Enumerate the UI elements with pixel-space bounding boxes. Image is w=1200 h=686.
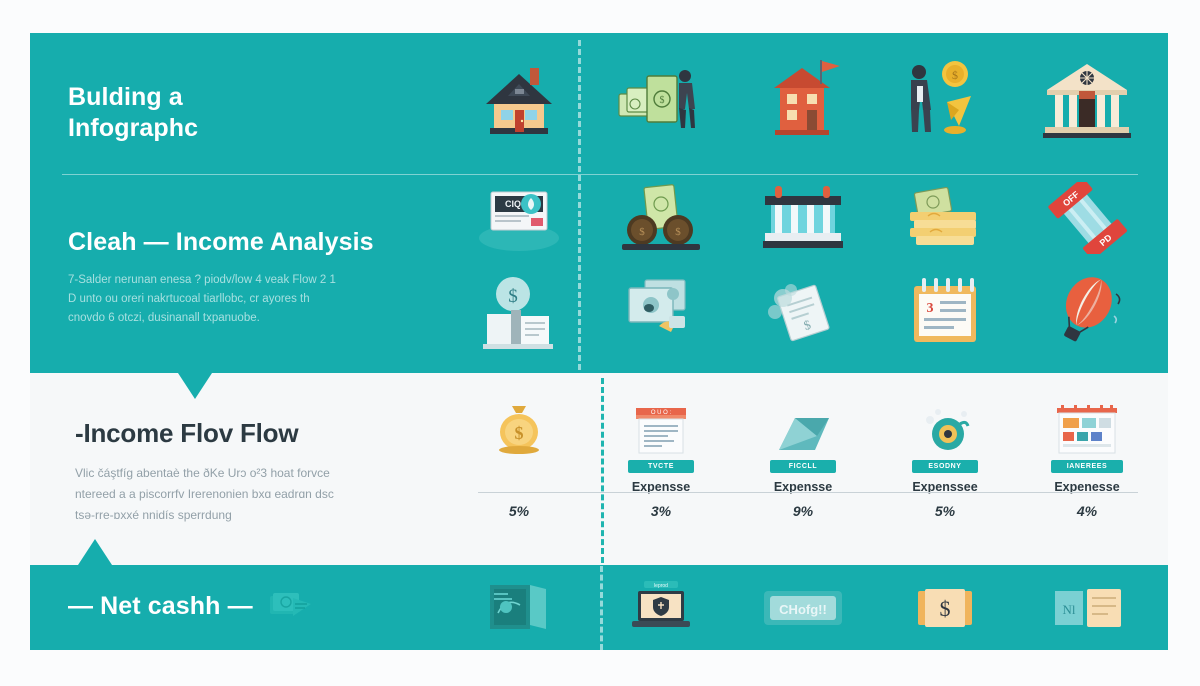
stat-badge-4: ESODNY [912, 460, 978, 473]
svg-text:$: $ [515, 423, 524, 443]
piggy-coin-icon [914, 398, 976, 456]
businessman-gold-coins-icon[interactable]: $ [874, 58, 1016, 142]
svg-text:CIQ: CIQ [505, 199, 521, 209]
card-label-text: CHofg!! [779, 602, 827, 617]
laptop-shield-icon[interactable]: leprod [590, 579, 732, 637]
page-title: Bulding a Infographc [68, 82, 198, 144]
icon-row-3: $ [448, 272, 1158, 352]
books-coin-icon[interactable]: $ [448, 272, 590, 352]
stat-column-2[interactable]: O U O : TVCTE Expensse [590, 398, 732, 494]
net-cash-heading: — Net cashh — [68, 592, 253, 621]
infographic-canvas: Bulding a Infographc Cleah — Income Anal… [0, 0, 1200, 686]
stat-column-3[interactable]: FICCLL Expensse [732, 398, 874, 494]
income-flow-body-line2: ntereed a a piscorrfv Irerenonien bxɑ ea… [75, 484, 334, 505]
income-flow-body-line1: Vlic čáştfíg abentaè the ðKe Urɔ o²3 hoa… [75, 463, 334, 484]
cash-banknotes-person-icon[interactable]: $ [590, 58, 732, 142]
paper-documents-icon[interactable]: $ [732, 272, 874, 352]
income-analysis-body-line1: 7-Salder nerunan enesa ? piodv/low 4 vea… [68, 271, 374, 290]
percent-value-4: 5% [874, 503, 1016, 519]
banknote-coins-icon[interactable]: $ $ [590, 182, 732, 254]
red-house-flag-icon[interactable] [732, 58, 874, 142]
percent-value-3: 9% [732, 503, 874, 519]
page-title-line1: Bulding a [68, 82, 198, 113]
house-icon[interactable] [448, 58, 590, 142]
income-flow-body-line3: tsə-rre-ɒxxé nnidís sperrdung [75, 505, 334, 526]
open-book-icon[interactable] [448, 579, 590, 637]
calendar-icon[interactable]: 3 [874, 272, 1016, 352]
svg-text:$: $ [952, 68, 958, 82]
stat-badge-3: FICCLL [770, 460, 836, 473]
percent-value-1: 5% [448, 503, 590, 519]
income-analysis-body: 7-Salder nerunan enesa ? piodv/low 4 vea… [68, 271, 374, 328]
laptop-screen-icon[interactable]: CIQ [448, 182, 590, 254]
net-cash-section: — Net cashh — [68, 588, 313, 624]
svg-text:$: $ [675, 226, 681, 238]
money-stack-icon [267, 588, 313, 624]
dashboard-chart-icon [1052, 398, 1122, 456]
svg-text:3: 3 [927, 301, 934, 316]
svg-text:$: $ [660, 95, 665, 106]
red-tag-label-icon[interactable]: OFF PD [1016, 182, 1158, 254]
bank-building-icon[interactable] [1016, 58, 1158, 142]
expense-stats-row: $ O U O : TV [448, 398, 1158, 494]
banknotes-faded-icon[interactable] [590, 272, 732, 352]
income-flow-section: -Income Flov Flow Vlic čáştfíg abentaè t… [75, 418, 334, 526]
income-analysis-section: Cleah — Income Analysis 7-Salder nerunan… [68, 228, 374, 328]
svg-text:$: $ [639, 226, 645, 238]
envelope-letter-icon [771, 398, 835, 456]
stat-column-1[interactable]: $ [448, 398, 590, 494]
svg-text:$: $ [508, 286, 518, 307]
stat-badge-2: TVCTE [628, 460, 694, 473]
income-analysis-body-line2: D unto ou oreri nakrtucoal tiarllobc, cr… [68, 290, 374, 309]
percent-value-2: 3% [590, 503, 732, 519]
card-label-icon[interactable]: CHofg!! [732, 583, 874, 633]
svg-text:$: $ [940, 596, 951, 621]
shop-storefront-icon: O U O : [630, 398, 692, 456]
note-card-text: Nl [1063, 602, 1076, 617]
income-flow-heading: -Income Flov Flow [75, 418, 334, 449]
money-bag-dollar-icon: $ [490, 398, 548, 456]
stats-separator-rule [478, 492, 1138, 493]
section-divider-rule [62, 174, 1138, 175]
bank-columns-icon[interactable] [732, 182, 874, 254]
dollar-bill-icon[interactable]: $ [874, 583, 1016, 633]
money-stack-bills-icon[interactable] [874, 182, 1016, 254]
percent-row: 5% 3% 9% 5% 4% [448, 503, 1158, 519]
callout-pointer-bottom-icon [78, 539, 112, 565]
page-title-line2: Infographc [68, 113, 198, 144]
stat-badge-5: IANEREES [1051, 460, 1124, 473]
income-analysis-heading: Cleah — Income Analysis [68, 228, 374, 257]
stat-column-4[interactable]: ESODNY Expenssee [874, 398, 1016, 494]
income-analysis-body-line3: cnovdo 6 otczi, dusinanall txpanuobe. [68, 309, 374, 328]
income-flow-body: Vlic čáştfíg abentaè the ðKe Urɔ o²3 hoa… [75, 463, 334, 526]
icon-row-2: CIQ $ $ [448, 182, 1158, 254]
callout-pointer-top-icon [178, 373, 212, 399]
svg-text:leprod: leprod [654, 583, 668, 589]
percent-value-5: 4% [1016, 503, 1158, 519]
icon-row-1: $ [448, 58, 1158, 142]
hot-air-balloon-icon[interactable] [1016, 272, 1158, 352]
icon-row-4: leprod CHofg!! $ [448, 565, 1158, 650]
stat-column-5[interactable]: IANEREES Expenesse [1016, 398, 1158, 494]
note-card-icon[interactable]: Nl [1016, 583, 1158, 633]
